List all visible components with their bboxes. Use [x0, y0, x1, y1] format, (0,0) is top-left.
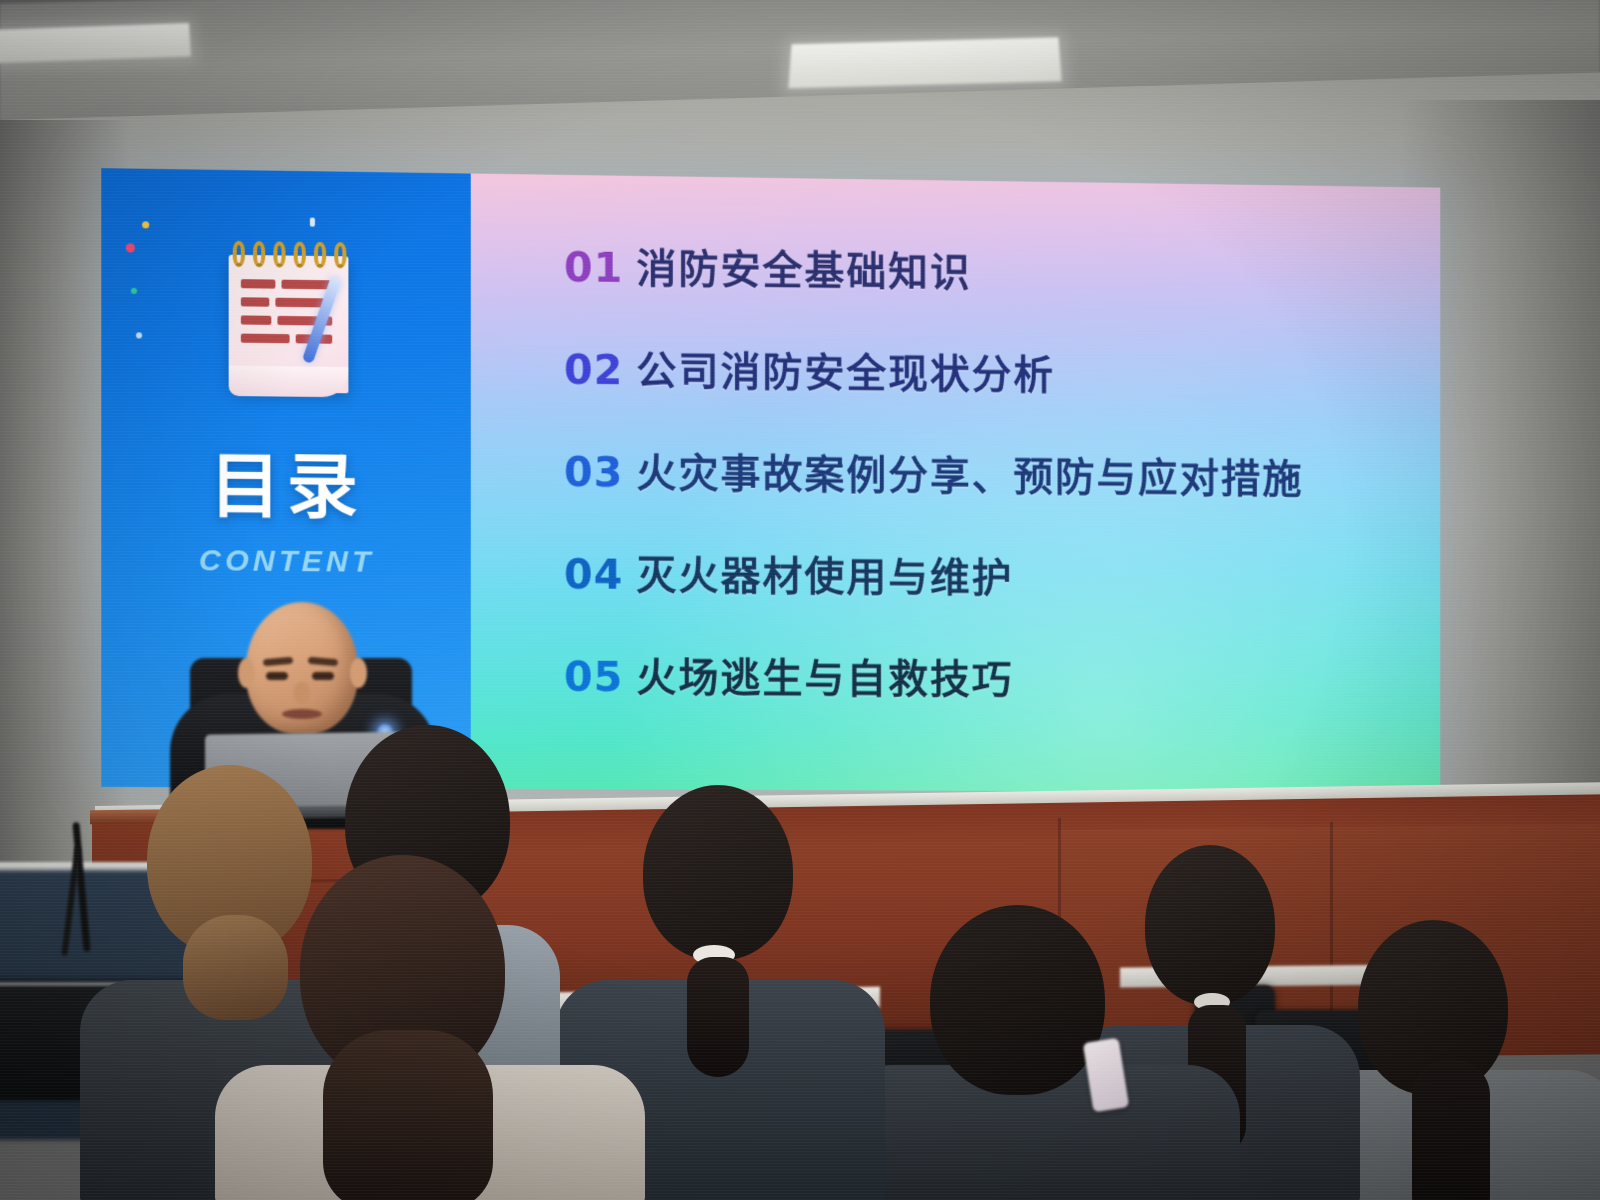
- toc-label: 灭火器材使用与维护: [636, 543, 1013, 604]
- toc-number: 02: [564, 345, 636, 394]
- toc-number: 01: [564, 243, 636, 292]
- toc-label: 消防安全基础知识: [636, 236, 971, 298]
- audience-head: [643, 785, 793, 960]
- presentation-room-photo: 目录 CONTENT 01 消防安全基础知识 02 公司消防安全现状分析 03 …: [0, 0, 1600, 1200]
- toc-item: 02 公司消防安全现状分析: [564, 337, 1440, 405]
- toc-number: 04: [564, 550, 636, 599]
- presenter-eye: [312, 672, 334, 680]
- notepad-page-curl: [229, 366, 349, 398]
- audience-head: [930, 905, 1105, 1095]
- light-panel-center: [788, 37, 1061, 88]
- toc-label: 火场逃生与自救技巧: [636, 645, 1013, 705]
- presenter-eye: [266, 672, 288, 680]
- sparkle-dot: [142, 221, 149, 228]
- sparkle-dot: [126, 243, 135, 252]
- toc-label: 公司消防安全现状分析: [636, 338, 1055, 401]
- toc-label: 火灾事故案例分享、预防与应对措施: [636, 441, 1303, 505]
- toc-item: 01 消防安全基础知识: [564, 235, 1440, 304]
- slide-toc-panel: 01 消防安全基础知识 02 公司消防安全现状分析 03 火灾事故案例分享、预防…: [471, 174, 1440, 794]
- presenter-nose: [294, 682, 310, 704]
- toc-number: 03: [564, 448, 636, 497]
- presenter-ear: [350, 658, 367, 688]
- toc-item: 04 灭火器材使用与维护: [564, 542, 1440, 607]
- toc-number: 05: [564, 653, 636, 702]
- presenter-mouth: [282, 709, 322, 719]
- slide-title-cn: 目录: [210, 430, 364, 533]
- toc-item: 03 火灾事故案例分享、预防与应对措施: [564, 440, 1440, 506]
- audience-member: [215, 855, 635, 1200]
- presenter-ear: [238, 658, 255, 688]
- toc-item: 05 火场逃生与自救技巧: [564, 645, 1440, 709]
- audience-member: [870, 905, 1200, 1200]
- audience-ponytail: [1412, 1060, 1490, 1200]
- notepad-spiral-rings: [233, 241, 347, 269]
- sparkle-dot: [131, 288, 137, 294]
- notepad-icon: [211, 232, 363, 405]
- audience-ponytail: [323, 1030, 493, 1200]
- light-panel-left: [0, 23, 191, 63]
- audience-ponytail: [687, 957, 749, 1077]
- slide-title-en: CONTENT: [199, 544, 375, 580]
- sparkle-dot: [310, 218, 315, 227]
- sparkle-dot: [136, 332, 142, 338]
